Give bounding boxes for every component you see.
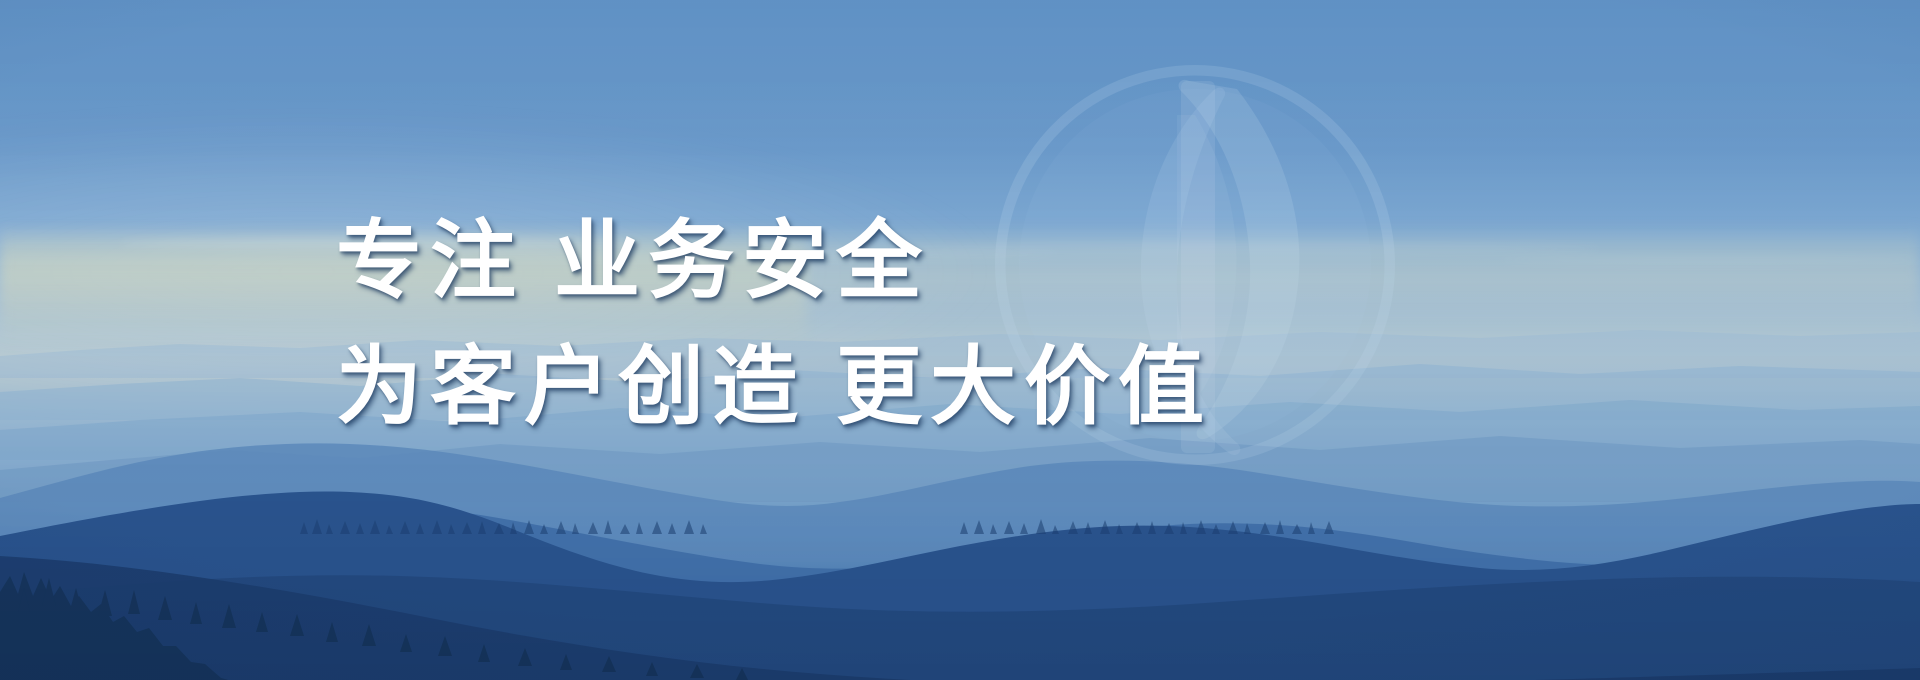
hero-banner: 专注业务安全 为客户创造更大价值 xyxy=(0,0,1920,680)
headline-line-1-part-1: 专注 xyxy=(336,213,524,309)
headline-line-2-part-1: 为客户创造 xyxy=(336,339,806,435)
headline-line-1: 专注业务安全 xyxy=(336,196,1212,326)
headline-line-1-part-2: 业务安全 xyxy=(554,213,930,309)
headline-block: 专注业务安全 为客户创造更大价值 xyxy=(336,196,1212,452)
headline-line-2: 为客户创造更大价值 xyxy=(336,322,1212,452)
pine-tree-silhouettes xyxy=(0,552,1920,680)
ridge-tree-crest-texture xyxy=(0,488,1920,548)
headline-line-2-part-2: 更大价值 xyxy=(836,339,1212,435)
